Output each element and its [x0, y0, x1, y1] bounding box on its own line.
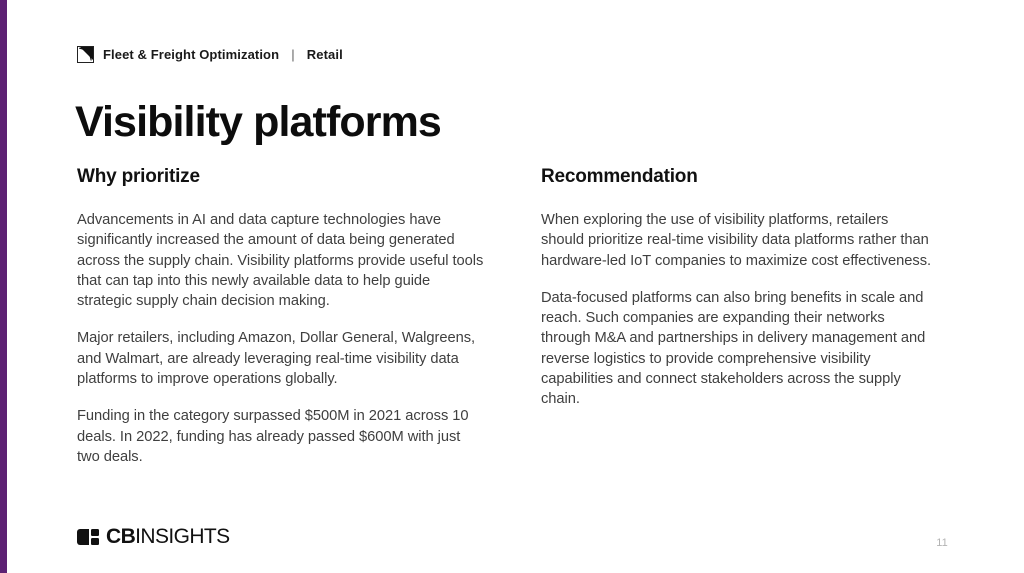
cbinsights-logo-text: CBINSIGHTS	[106, 526, 230, 548]
cbinsights-logo: CBINSIGHTS	[77, 526, 230, 548]
column-recommendation: Recommendation When exploring the use of…	[541, 166, 933, 410]
paragraph: Major retailers, including Amazon, Dolla…	[77, 328, 485, 389]
cbinsights-logo-mark	[77, 529, 99, 545]
freight-mark-icon	[77, 46, 94, 63]
column-heading-why-prioritize: Why prioritize	[77, 166, 485, 188]
paragraph: Funding in the category surpassed $500M …	[77, 406, 485, 467]
eyebrow: Fleet & Freight Optimization | Retail	[77, 44, 343, 64]
accent-rail	[0, 0, 7, 573]
paragraph: When exploring the use of visibility pla…	[541, 210, 933, 271]
column-heading-recommendation: Recommendation	[541, 166, 933, 188]
column-why-prioritize: Why prioritize Advancements in AI and da…	[77, 166, 485, 467]
paragraph: Advancements in AI and data capture tech…	[77, 210, 485, 311]
eyebrow-segment: Retail	[307, 46, 343, 63]
paragraph: Data-focused platforms can also bring be…	[541, 288, 933, 410]
page-number: 11	[930, 536, 954, 550]
logo-secondary: INSIGHTS	[135, 525, 229, 548]
eyebrow-separator: |	[288, 46, 298, 63]
eyebrow-category: Fleet & Freight Optimization	[103, 46, 279, 63]
logo-primary: CB	[106, 525, 135, 548]
slide: Fleet & Freight Optimization | Retail Vi…	[0, 0, 1024, 573]
page-title: Visibility platforms	[75, 97, 441, 147]
